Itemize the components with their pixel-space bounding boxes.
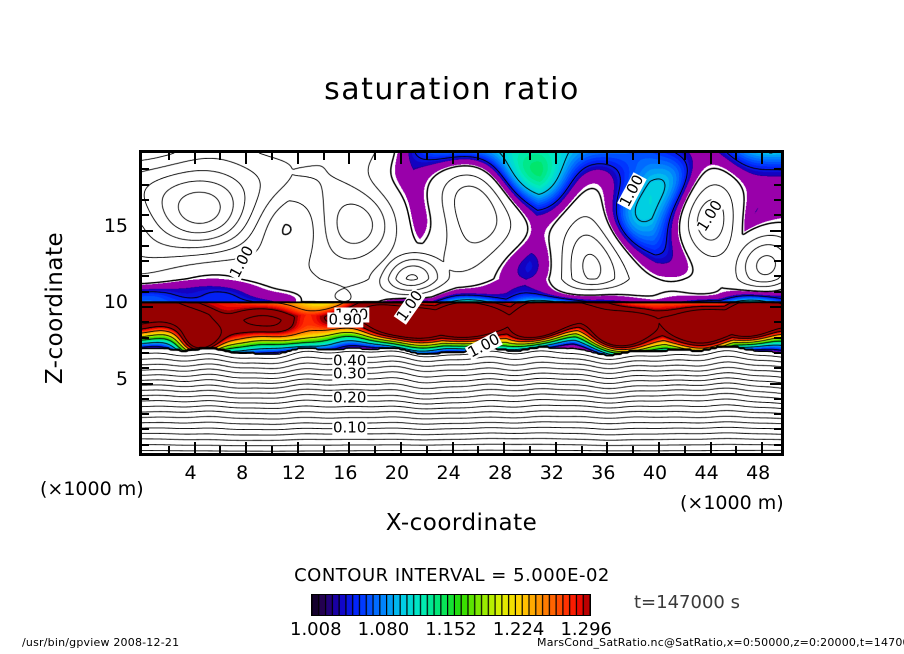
- y-tick: [142, 291, 149, 293]
- y-tick-right: [774, 260, 781, 262]
- x-tick-top: [477, 153, 479, 160]
- x-tick: [581, 446, 583, 453]
- y-tick-label: 15: [88, 215, 128, 237]
- x-tick-top: [271, 153, 273, 160]
- x-tick-top: [400, 153, 402, 164]
- x-tick: [606, 442, 608, 453]
- x-tick: [348, 442, 350, 453]
- x-tick: [735, 446, 737, 453]
- contour-label: 0.10: [332, 421, 367, 436]
- x-tick: [271, 446, 273, 453]
- x-tick: [632, 446, 634, 453]
- contour-plot-area[interactable]: 1.001.001.001.001.001.000.900.400.300.20…: [139, 150, 784, 456]
- colorbar[interactable]: [311, 594, 591, 616]
- x-tick: [426, 446, 428, 453]
- contour-label: 0.20: [332, 390, 367, 405]
- y-tick-right: [774, 367, 781, 369]
- x-tick-label: 16: [325, 462, 365, 484]
- y-tick: [142, 352, 149, 354]
- y-tick: [142, 337, 149, 339]
- x-tick-top: [658, 153, 660, 164]
- y-tick-right: [774, 184, 781, 186]
- x-tick: [374, 446, 376, 453]
- x-tick-top: [555, 153, 557, 164]
- y-tick: [142, 444, 149, 446]
- page-title: saturation ratio: [0, 72, 904, 107]
- y-tick-right: [770, 383, 781, 385]
- x-tick-top: [374, 153, 376, 160]
- x-units-left-label: (×1000 m): [40, 478, 144, 500]
- y-tick-right: [774, 291, 781, 293]
- x-tick-top: [245, 153, 247, 164]
- x-tick-label: 8: [222, 462, 262, 484]
- y-tick-right: [774, 398, 781, 400]
- x-tick-label: 40: [635, 462, 675, 484]
- footer-command-label: /usr/bin/gpview 2008-12-21: [22, 636, 179, 649]
- x-tick-top: [297, 153, 299, 164]
- y-tick-right: [774, 245, 781, 247]
- y-tick: [142, 398, 149, 400]
- y-tick: [142, 199, 149, 201]
- x-tick: [529, 446, 531, 453]
- x-tick: [168, 446, 170, 453]
- y-tick: [142, 413, 149, 415]
- x-tick: [245, 442, 247, 453]
- x-tick-top: [710, 153, 712, 164]
- colorbar-gradient: [312, 595, 590, 615]
- contour-field-canvas: [142, 153, 781, 453]
- x-tick: [194, 442, 196, 453]
- y-tick-label: 5: [88, 368, 128, 390]
- x-tick-top: [581, 153, 583, 160]
- y-tick: [142, 184, 149, 186]
- x-tick: [761, 442, 763, 453]
- x-tick-top: [348, 153, 350, 164]
- x-tick-top: [219, 153, 221, 160]
- footer-dataset-label: MarsCond_SatRatio.nc@SatRatio,x=0:50000,…: [537, 636, 904, 649]
- x-tick: [219, 446, 221, 453]
- x-tick: [477, 446, 479, 453]
- x-tick-top: [168, 153, 170, 160]
- y-tick: [142, 275, 149, 277]
- y-tick-right: [770, 306, 781, 308]
- y-tick: [142, 367, 149, 369]
- x-tick-top: [761, 153, 763, 164]
- y-tick-right: [774, 214, 781, 216]
- y-tick: [142, 428, 149, 430]
- x-tick: [684, 446, 686, 453]
- x-tick-label: 24: [429, 462, 469, 484]
- y-tick-right: [774, 321, 781, 323]
- x-tick: [452, 442, 454, 453]
- y-tick: [142, 383, 153, 385]
- x-tick-top: [194, 153, 196, 164]
- x-tick: [400, 442, 402, 453]
- x-tick-label: 12: [274, 462, 314, 484]
- x-tick: [297, 442, 299, 453]
- colorbar-tick-label: 1.008: [290, 619, 342, 640]
- x-tick-label: 28: [480, 462, 520, 484]
- x-tick-top: [503, 153, 505, 164]
- y-tick-label: 10: [88, 291, 128, 313]
- x-tick-label: 48: [738, 462, 778, 484]
- x-tick-label: 20: [377, 462, 417, 484]
- y-tick: [142, 260, 149, 262]
- time-annotation: t=147000 s: [634, 592, 740, 613]
- x-tick-top: [323, 153, 325, 160]
- x-tick-label: 44: [687, 462, 727, 484]
- y-tick-right: [774, 352, 781, 354]
- x-tick-top: [632, 153, 634, 160]
- x-tick-top: [606, 153, 608, 164]
- y-tick: [142, 168, 149, 170]
- y-tick: [142, 230, 153, 232]
- x-tick: [710, 442, 712, 453]
- y-tick-right: [774, 428, 781, 430]
- y-tick: [142, 245, 149, 247]
- x-tick-top: [529, 153, 531, 160]
- x-tick-top: [735, 153, 737, 160]
- y-tick-right: [774, 413, 781, 415]
- colorbar-tick-label: 1.152: [425, 619, 477, 640]
- x-tick: [323, 446, 325, 453]
- y-axis-title: Z-coordinate: [42, 198, 68, 418]
- y-tick-right: [774, 168, 781, 170]
- contour-interval-label: CONTOUR INTERVAL = 5.000E-02: [0, 565, 904, 586]
- x-tick-top: [684, 153, 686, 160]
- x-units-right-label: (×1000 m): [680, 492, 784, 514]
- colorbar-tick-label: 1.080: [358, 619, 410, 640]
- y-tick: [142, 306, 153, 308]
- x-tick-label: 4: [171, 462, 211, 484]
- y-tick-right: [774, 199, 781, 201]
- contour-label: 0.90: [327, 312, 362, 327]
- y-tick: [142, 214, 149, 216]
- x-tick-top: [452, 153, 454, 164]
- y-tick-right: [774, 275, 781, 277]
- y-tick-right: [774, 337, 781, 339]
- x-tick-label: 32: [532, 462, 572, 484]
- y-tick: [142, 321, 149, 323]
- x-tick: [555, 442, 557, 453]
- x-tick-label: 36: [583, 462, 623, 484]
- x-tick-top: [426, 153, 428, 160]
- contour-label: 0.30: [332, 367, 367, 382]
- x-tick: [503, 442, 505, 453]
- y-tick-right: [774, 444, 781, 446]
- y-tick-right: [770, 230, 781, 232]
- x-tick: [658, 442, 660, 453]
